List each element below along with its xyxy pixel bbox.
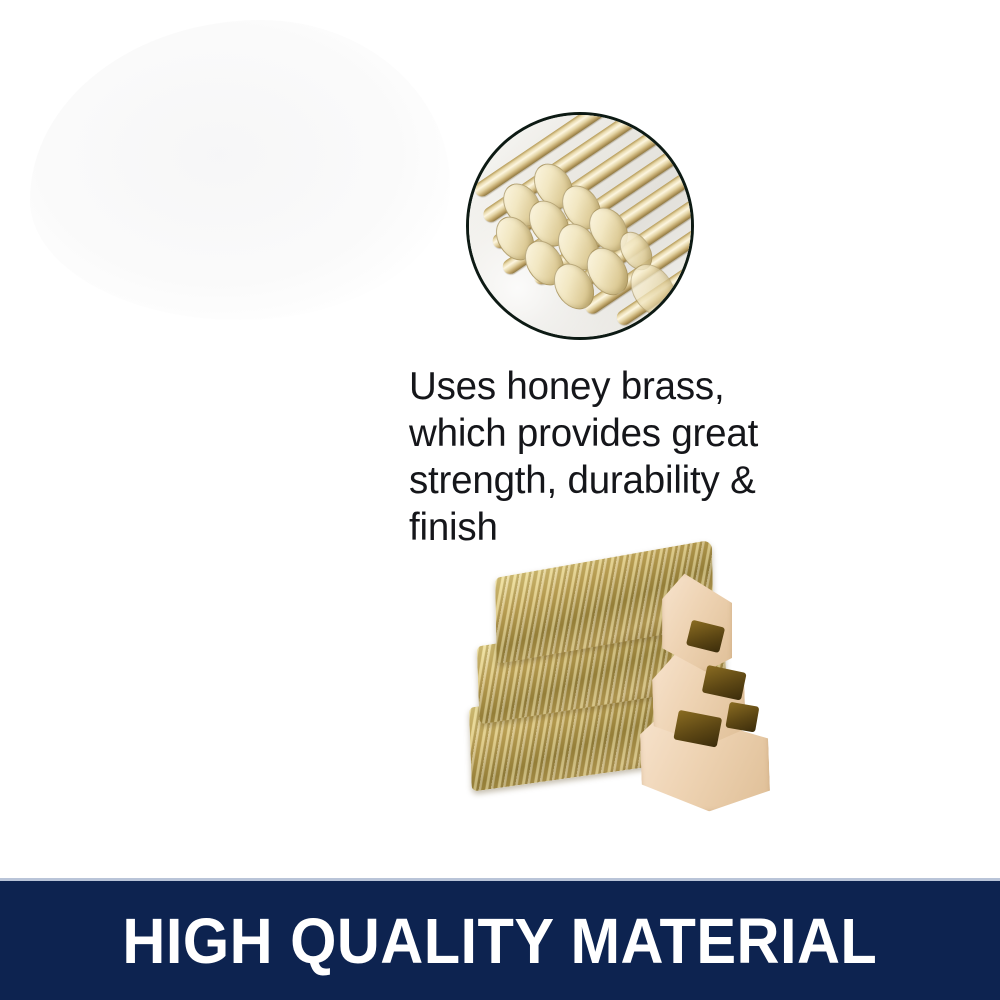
- brass-ingots-image: [468, 548, 792, 810]
- brass-rods-circle-image: [466, 112, 694, 340]
- banner-title: HIGH QUALITY MATERIAL: [123, 909, 878, 973]
- feature-description: Uses honey brass, which provides great s…: [409, 363, 809, 551]
- bottom-banner: HIGH QUALITY MATERIAL: [0, 878, 1000, 1000]
- background-smudge: [30, 20, 450, 320]
- brass-ingot-notch: [725, 702, 759, 733]
- product-feature-card: Uses honey brass, which provides great s…: [0, 0, 1000, 1000]
- brass-rods-photo-inner: [469, 115, 691, 337]
- brass-ingot-stack: [464, 542, 797, 815]
